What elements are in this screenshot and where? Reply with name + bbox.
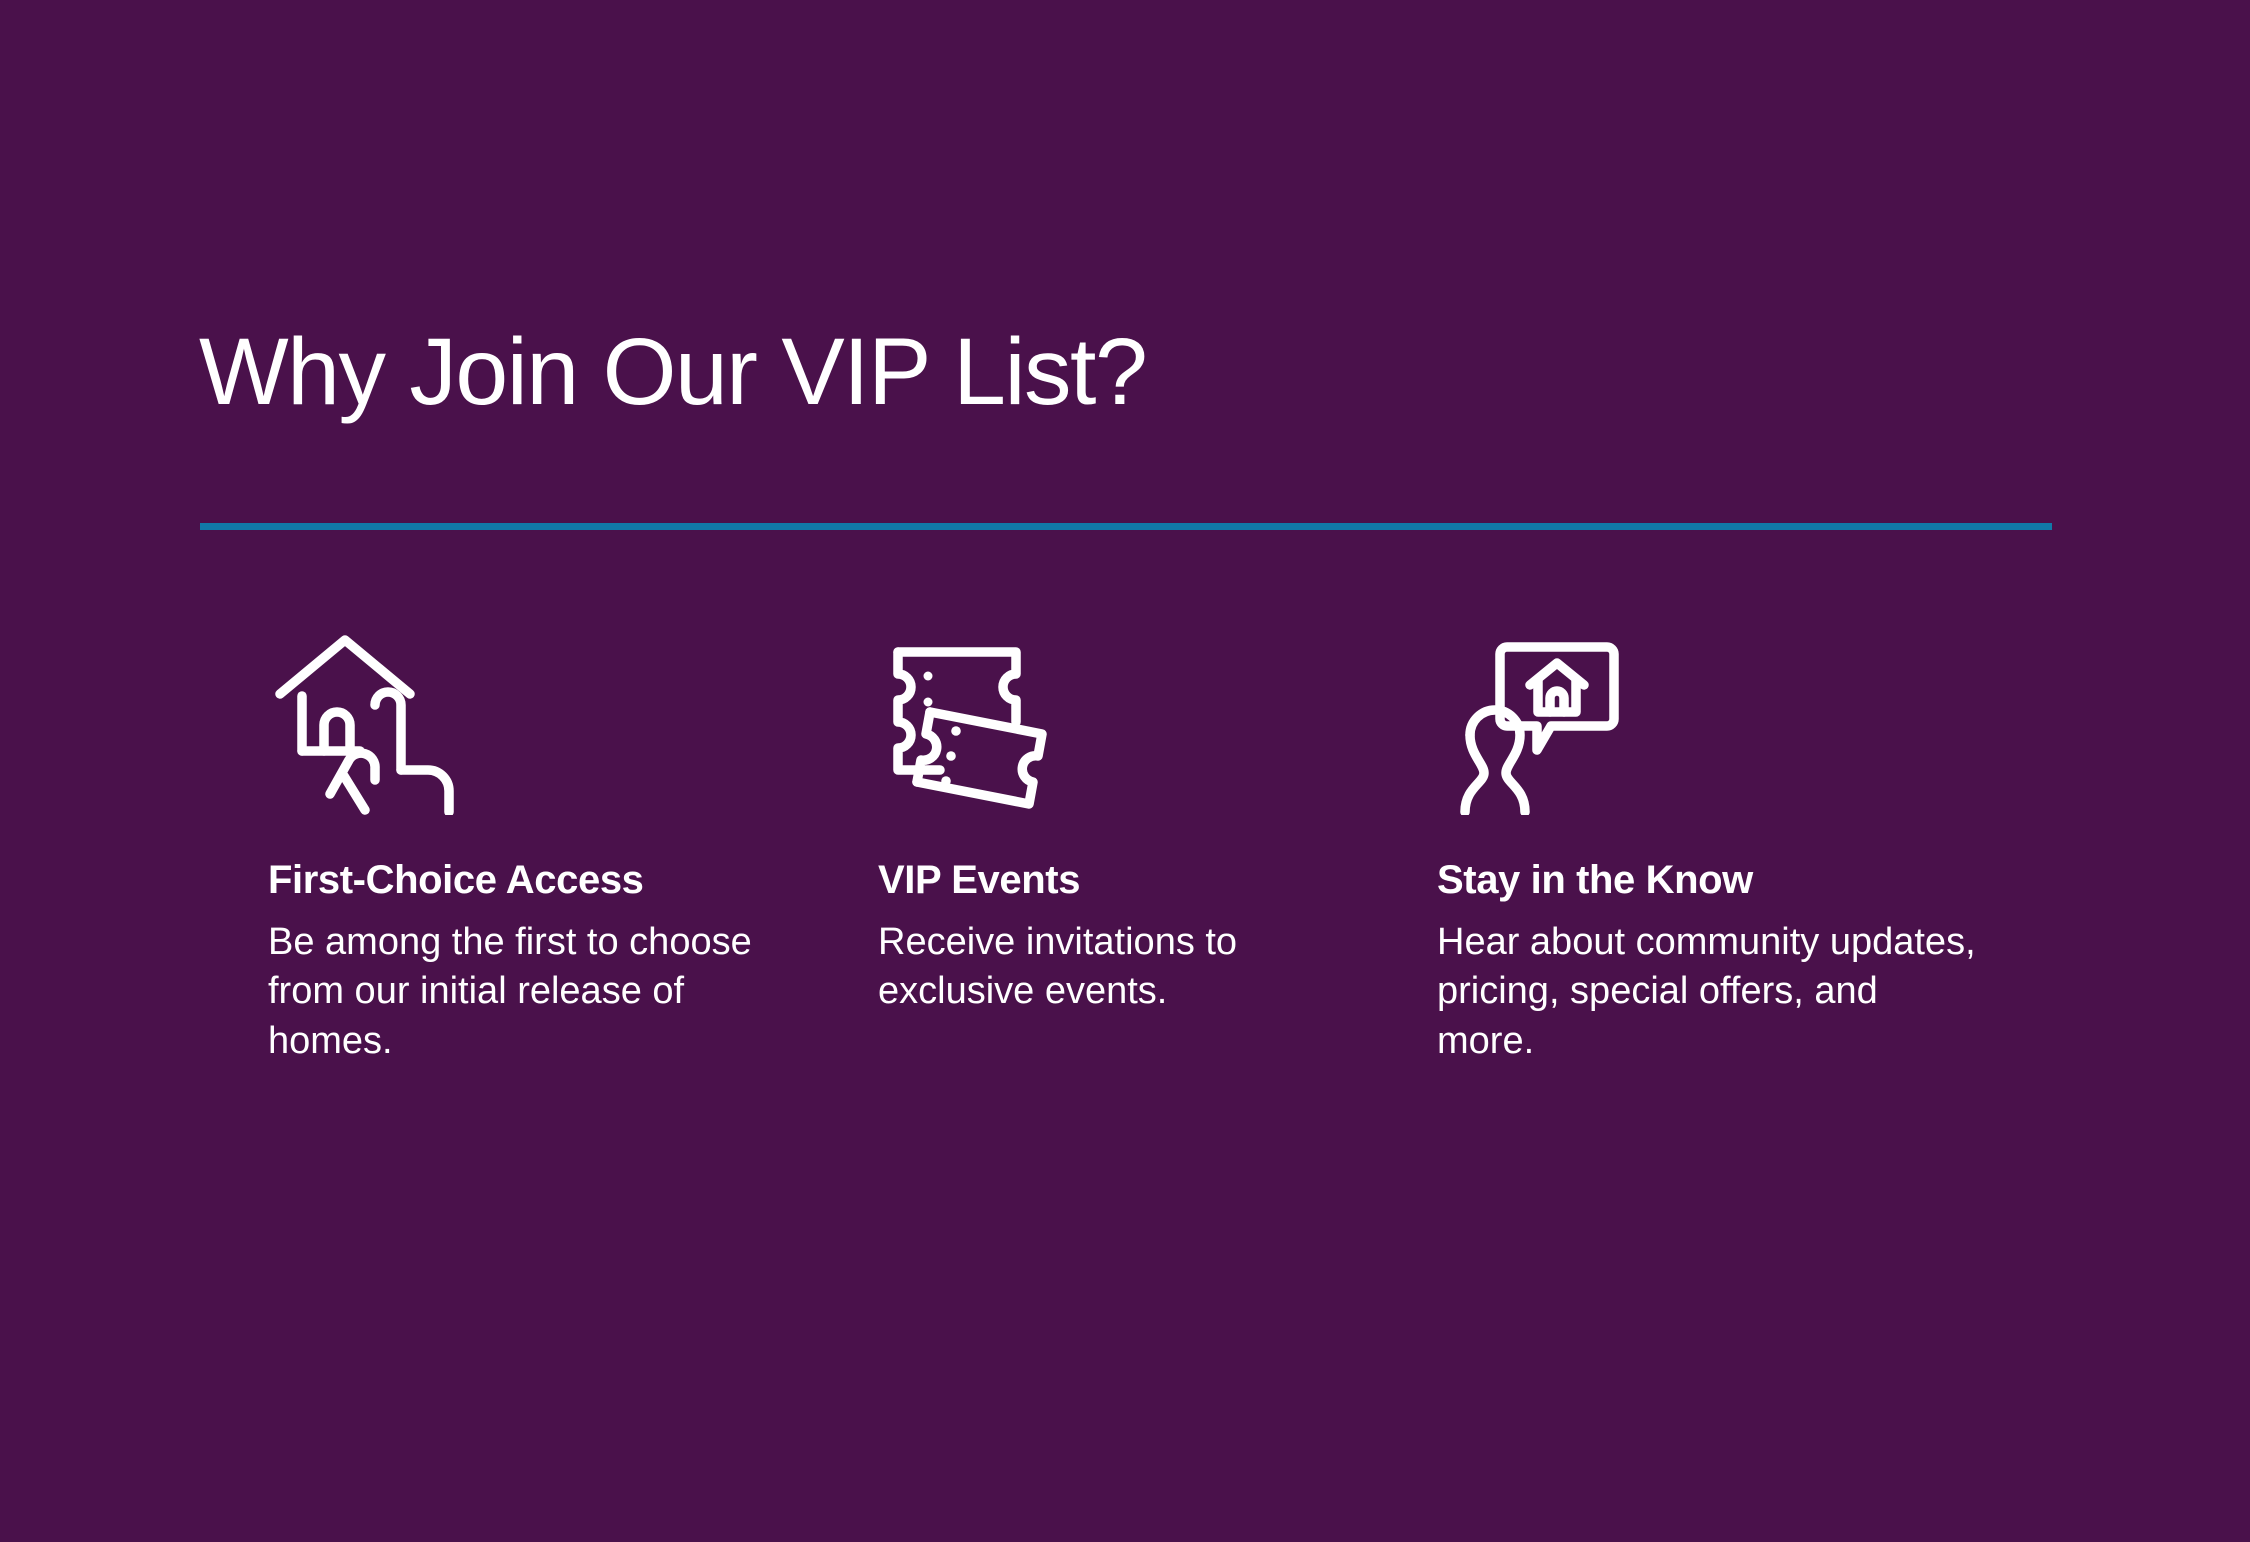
benefit-body: Hear about community updates, pricing, s… <box>1437 918 1982 1066</box>
benefit-title: VIP Events <box>878 858 1418 902</box>
benefit-column-vip-events: VIP Events Receive invitations to exclus… <box>878 630 1418 1017</box>
benefit-body: Receive invitations to exclusive events. <box>878 918 1398 1017</box>
house-pointing-hand-icon <box>268 630 808 820</box>
person-speech-bubble-house-icon <box>1437 630 1997 820</box>
page-title: Why Join Our VIP List? <box>199 325 1146 420</box>
benefit-title: First-Choice Access <box>268 858 808 902</box>
benefit-title: Stay in the Know <box>1437 858 1997 902</box>
benefit-body: Be among the first to choose from our in… <box>268 918 788 1066</box>
accent-divider <box>200 523 2052 530</box>
vip-benefits-slide: Why Join Our VIP List? <box>0 0 2250 1542</box>
benefit-column-stay-in-the-know: Stay in the Know Hear about community up… <box>1437 630 1997 1066</box>
benefits-columns: First-Choice Access Be among the first t… <box>0 630 2250 1190</box>
two-tickets-icon <box>878 630 1418 820</box>
benefit-column-first-choice-access: First-Choice Access Be among the first t… <box>268 630 808 1066</box>
